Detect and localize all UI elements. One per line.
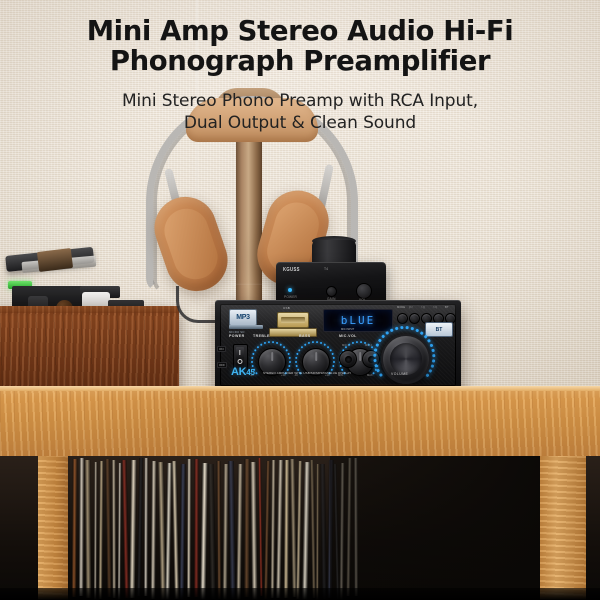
subhead-line-1: Mini Stereo Phono Preamp with RCA Input, [122, 91, 478, 111]
power-on-icon [239, 350, 240, 355]
treble-label: TREBLE [253, 334, 270, 338]
preamp-gain-knob[interactable] [326, 286, 337, 297]
usb-port[interactable] [277, 312, 309, 328]
volume-label: VOLUME [391, 372, 408, 376]
volume-knob-face [390, 343, 422, 375]
vinyl-record [144, 458, 148, 596]
button-label-play: > || [421, 306, 425, 309]
mode-button[interactable] [397, 313, 408, 324]
record-shelf-shadow [330, 456, 540, 600]
mic-vol-max-label: MAX [367, 374, 373, 377]
vinyl-record [94, 462, 98, 600]
volume-knob[interactable] [381, 334, 431, 384]
vinyl-record [194, 459, 199, 597]
led-display-text: bLUE [341, 314, 376, 327]
vinyl-record [284, 460, 290, 598]
preamp-power-led [288, 288, 292, 292]
mp3-badge-label: MP3 [236, 314, 250, 321]
mic-input-group-label: MIC INPUT [341, 328, 354, 331]
vinyl-record [112, 460, 116, 598]
page-title: Mini Amp Stereo Audio Hi-Fi Phonograph P… [0, 16, 600, 76]
brand-logo: AK45 [231, 366, 255, 378]
vinyl-record [316, 464, 319, 600]
vinyl-record [71, 459, 77, 597]
mp3-badge: MP3 [229, 309, 257, 326]
mic1-label: MIC 1 [342, 344, 349, 347]
vinyl-record [79, 458, 85, 596]
headline-line-1: Mini Amp Stereo Audio Hi-Fi [87, 15, 514, 47]
earpad-left [158, 203, 223, 285]
preamp-power-label: POWER [284, 295, 297, 299]
vinyl-record [244, 459, 250, 597]
previous-button[interactable] [409, 313, 420, 324]
preamp-brand-logo: KGUSS [283, 267, 300, 273]
usb-port-label: USB [283, 306, 290, 310]
usb-port-contacts [281, 317, 305, 323]
shelf-divider-left [38, 456, 68, 600]
button-label-prev: |<< [409, 306, 413, 309]
power-on-label: ON [217, 346, 226, 352]
power-rocker [236, 347, 244, 368]
divider-grain-left [38, 456, 68, 600]
button-label-bt: BT [445, 306, 449, 309]
preamp-volume-knob[interactable] [356, 283, 372, 299]
main-amplifier-unit: MP3 MICRO SD USB bLUE MODE |<< > || >>| … [215, 300, 461, 390]
bluetooth-icon: BT [436, 327, 443, 333]
subhead-line-2: Dual Output & Clean Sound [184, 113, 416, 133]
record-shelf [0, 456, 600, 600]
power-off-icon [238, 359, 243, 364]
product-hero-scene: KGUSS T4 POWER GAIN VOL MP3 MICRO SD USB… [0, 0, 600, 600]
bass-label: BASS [299, 334, 311, 338]
page-subtitle: Mini Stereo Phono Preamp with RCA Input,… [0, 90, 600, 134]
shelf-floor [0, 588, 600, 600]
turntable-cartridge [37, 248, 73, 272]
bluetooth-badge: BT [425, 322, 453, 337]
vinyl-record [84, 460, 91, 598]
cabinet-top-edge [0, 306, 179, 313]
headphone-cable [176, 286, 219, 323]
button-label-next: >>| [433, 306, 437, 309]
phono-preamp-unit: KGUSS T4 POWER GAIN VOL [276, 262, 386, 304]
led-display: bLUE [323, 309, 393, 332]
brand-model: 45 [246, 368, 254, 377]
shelf-divider-right [540, 456, 586, 600]
mic1-jack[interactable] [339, 350, 357, 368]
power-label: POWER [229, 334, 245, 338]
headline-line-2: Phonograph Preamplifier [110, 45, 490, 77]
mic-vol-label: MIC.VOL [339, 334, 357, 338]
shelf-wood-grain [0, 386, 600, 456]
mp3-badge-strip [229, 325, 263, 329]
preamp-model-label: T4 [324, 267, 328, 271]
shelf-front-lip [0, 386, 600, 391]
vinyl-record [187, 459, 192, 597]
transport-button-row: MODE |<< > || >>| BT [397, 310, 453, 322]
mic2-label: MIC 2 [365, 344, 372, 347]
vinyl-record [217, 461, 222, 599]
divider-grain-right [540, 456, 586, 600]
oak-shelf-surface [0, 386, 600, 456]
marketing-text-block: Mini Amp Stereo Audio Hi-Fi Phonograph P… [0, 16, 600, 134]
button-label-mode: MODE [397, 306, 405, 309]
amplifier-spec-line: STEREO AMPLIFIER WITH USB/SD/MP3/FM/BLUE… [263, 371, 351, 375]
power-off-label: OFF [217, 362, 227, 368]
brand-name: AK [231, 366, 246, 378]
